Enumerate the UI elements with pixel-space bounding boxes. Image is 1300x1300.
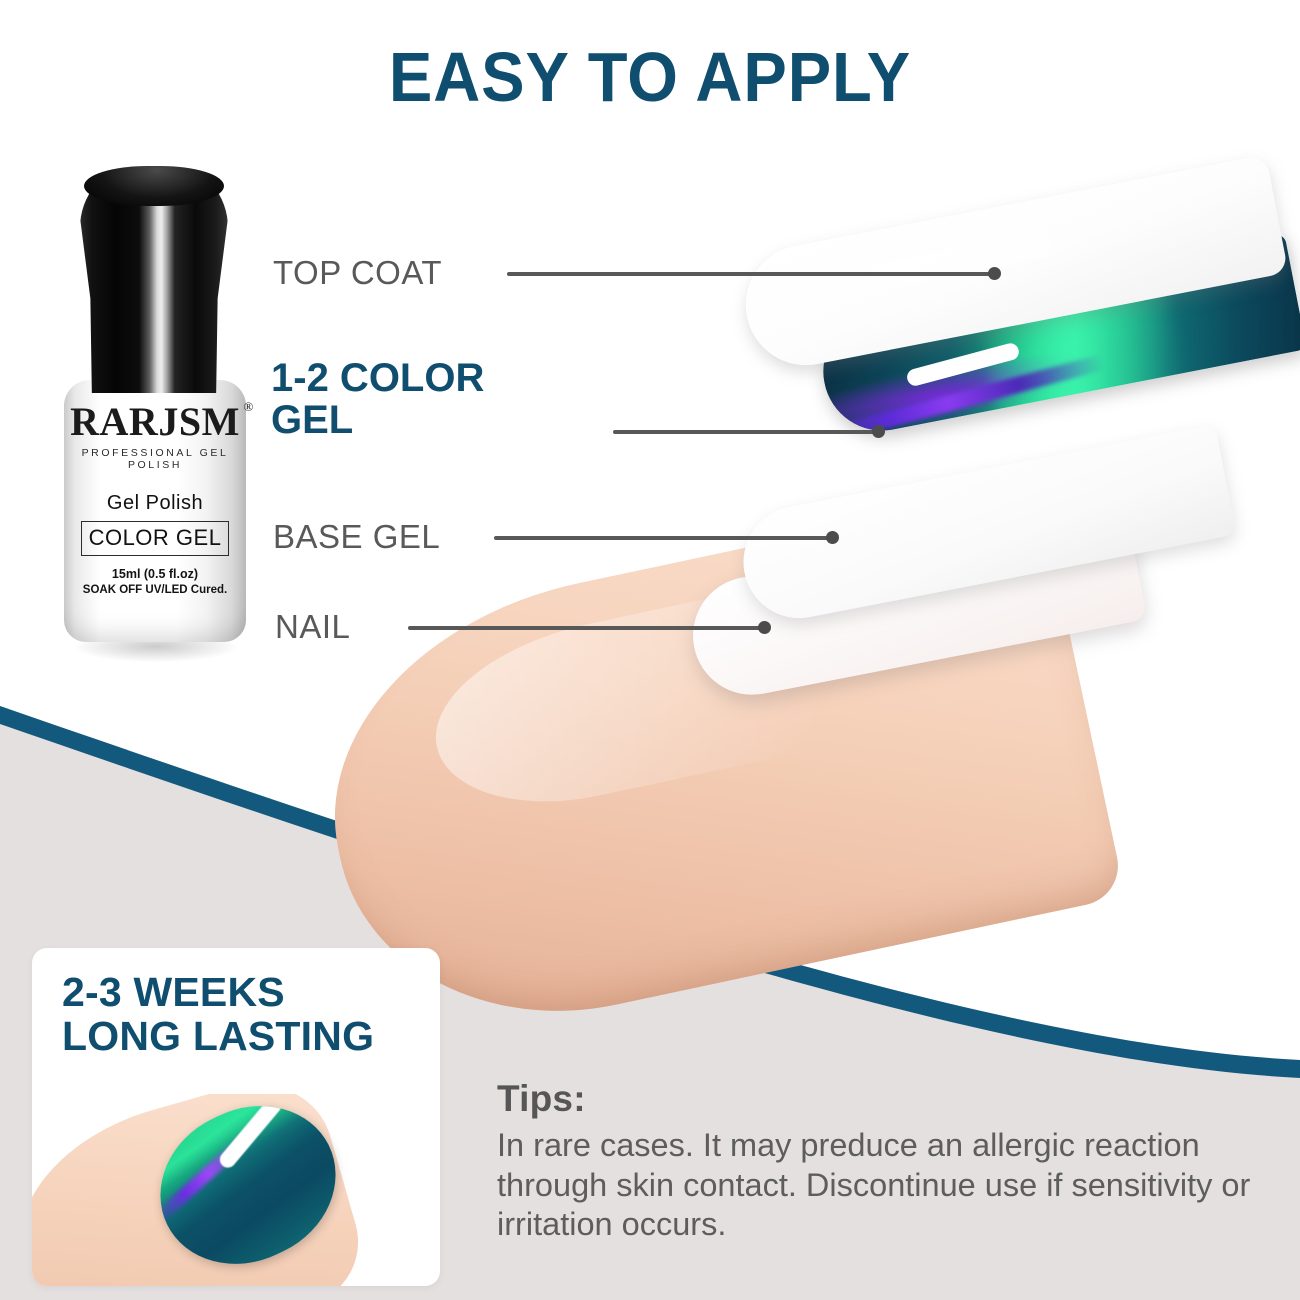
tips-body: In rare cases. It may preduce an allergi… — [497, 1126, 1267, 1245]
layer-label-color-gel: 1-2 COLOR GEL — [271, 357, 484, 442]
brand-tagline: PROFESSIONAL GEL POLISH — [64, 447, 246, 471]
card-title-line1: 2-3 WEEKS — [62, 970, 432, 1014]
page-title: EASY TO APPLY — [46, 42, 1255, 112]
leader-line-top-coat — [507, 272, 994, 276]
label-product-name: Gel Polish — [64, 492, 246, 515]
long-lasting-card: 2-3 WEEKS LONG LASTING — [32, 948, 440, 1286]
infographic-page: EASY TO APPLY RARJSM® PROFESSIONAL GEL P… — [0, 0, 1300, 1300]
layer-label-base-gel: BASE GEL — [273, 518, 440, 556]
label-product-type: COLOR GEL — [81, 521, 229, 556]
layer-label-top-coat: TOP COAT — [273, 254, 442, 292]
layer-label-color-gel-line2: GEL — [271, 399, 484, 441]
label-volume: 15ml (0.5 fl.oz) — [64, 567, 246, 581]
leader-line-color-gel — [613, 430, 879, 434]
leader-dot-base-gel — [826, 531, 839, 544]
tips-section: Tips: In rare cases. It may preduce an a… — [497, 1078, 1267, 1245]
brand-name: RARJSM® — [70, 402, 240, 442]
leader-line-base-gel — [494, 536, 832, 540]
layer-label-nail: NAIL — [275, 608, 350, 646]
polish-bottle: RARJSM® PROFESSIONAL GEL POLISH Gel Poli… — [40, 160, 270, 680]
bottle-cap-top — [84, 166, 224, 206]
label-cure-info: SOAK OFF UV/LED Cured. — [64, 584, 246, 596]
leader-dot-top-coat — [988, 267, 1001, 280]
card-title: 2-3 WEEKS LONG LASTING — [62, 970, 432, 1059]
leader-dot-color-gel — [872, 425, 885, 438]
tips-heading: Tips: — [497, 1078, 1267, 1120]
layer-label-color-gel-line1: 1-2 COLOR — [271, 357, 484, 399]
leader-line-nail — [408, 626, 764, 630]
bottle-label: RARJSM® PROFESSIONAL GEL POLISH Gel Poli… — [64, 392, 246, 632]
card-title-line2: LONG LASTING — [62, 1014, 432, 1058]
card-nail-photo — [32, 1094, 440, 1286]
brand-text: RARJSM — [70, 399, 240, 444]
leader-dot-nail — [758, 621, 771, 634]
registered-mark-icon: ® — [243, 400, 253, 413]
